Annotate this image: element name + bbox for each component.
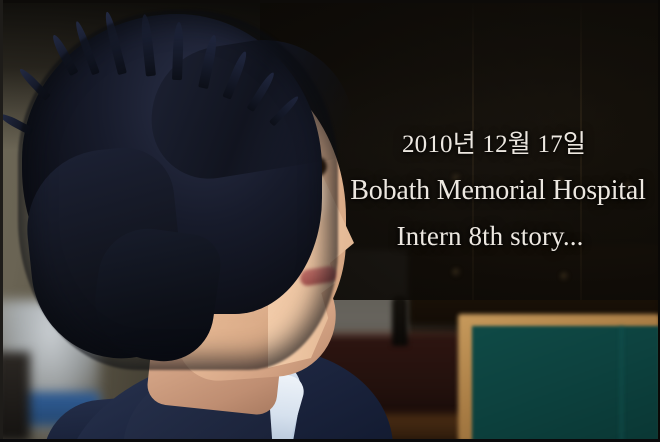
caption-block: 2010년 12월 17일 Bobath Memorial Hospital I…: [328, 132, 660, 250]
caption-subtitle: Intern 8th story...: [328, 223, 652, 250]
caption-date: 2010년 12월 17일: [328, 132, 660, 177]
frame-edge-top: [0, 0, 660, 3]
hair-edge-softening: [18, 10, 338, 370]
frame-edge-left: [0, 0, 3, 442]
photo-slide: 2010년 12월 17일 Bobath Memorial Hospital I…: [0, 0, 660, 442]
caption-place: Bobath Memorial Hospital: [328, 177, 660, 223]
